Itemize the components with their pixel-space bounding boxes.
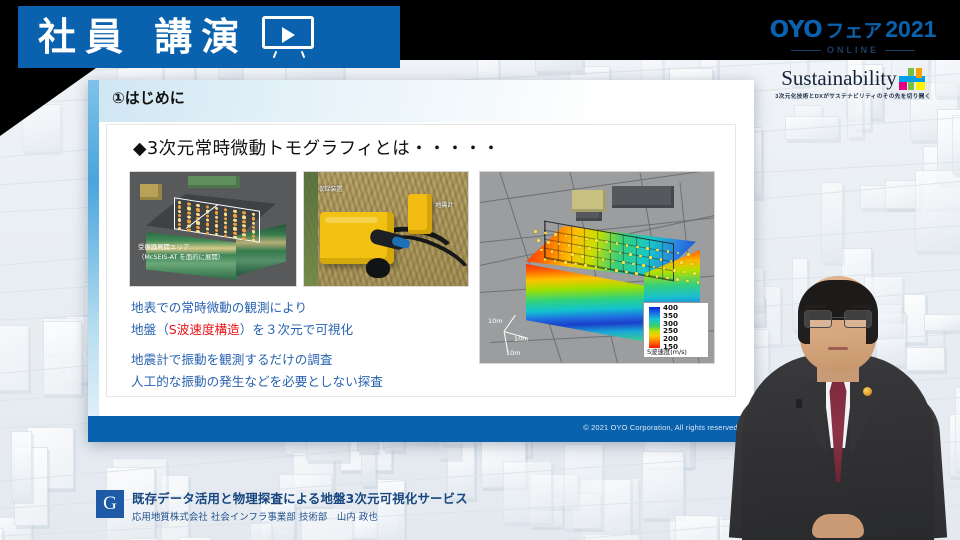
- slide-content-box: ◆3次元常時微動トモグラフィとは・・・・・ 受振器展開エリア: [106, 124, 736, 397]
- sensor-dot: [537, 239, 540, 242]
- sensor-dot: [564, 261, 567, 264]
- presenter-video: [734, 270, 942, 540]
- sensor-dot: [673, 269, 676, 272]
- sensor-dot: [224, 212, 227, 216]
- sensor-dot: [224, 234, 227, 238]
- scale-axis-indicator: 10m 10m 10m: [488, 311, 540, 355]
- body-line-1: 地表での常時微動の観測により: [131, 297, 383, 319]
- sensor-dot: [609, 250, 612, 253]
- sensor-dot: [544, 232, 547, 235]
- city-block: [0, 325, 29, 390]
- sensor-dot: [242, 211, 245, 215]
- sensor-dot: [233, 214, 236, 218]
- sensor-dot: [622, 261, 625, 264]
- sensor-dot: [591, 257, 594, 260]
- sensor-dot: [178, 218, 181, 222]
- receiver-array-illustration: 受振器展開エリア （McSEIS-AT を面的に展開）: [129, 171, 297, 287]
- city-block: [955, 387, 960, 471]
- sensor-dot: [595, 239, 598, 242]
- sensor-dot: [224, 208, 227, 212]
- footer-subtitle: 応用地質株式会社 社会インフラ事業部 技術部 山内 政也: [132, 509, 378, 523]
- sensor-dot: [534, 230, 537, 233]
- sensor-dot: [233, 235, 236, 239]
- axis-label-y: 10m: [506, 349, 521, 357]
- sensor-dot: [206, 205, 209, 209]
- sensor-dot: [676, 278, 679, 281]
- label-seismometer: 地震計: [435, 200, 454, 209]
- sensor-dot: [224, 221, 227, 225]
- sensor-dot: [242, 215, 245, 219]
- sensor-dot: [206, 222, 209, 226]
- sensor-dot: [578, 246, 581, 249]
- sensor-dot: [206, 231, 209, 235]
- sensor-dot: [551, 250, 554, 253]
- city-block: [952, 115, 960, 173]
- sensor-dot: [636, 246, 639, 249]
- figure1-caption: 受振器展開エリア （McSEIS-AT を面的に展開）: [138, 243, 224, 262]
- sensor-dot: [554, 233, 557, 236]
- sustainability-wordmark: Sustainability: [781, 66, 897, 91]
- banner-title: 社員 講演: [38, 18, 248, 56]
- footer-title: 既存データ活用と物理探査による地盤3次元可視化サービス: [132, 489, 468, 507]
- sensor-dot: [252, 238, 255, 242]
- colorbar-legend: 400350300250200150 S波速度(m/s): [643, 302, 709, 358]
- sensor-dot: [660, 258, 663, 261]
- logo-brand: OYO: [770, 17, 823, 43]
- sensor-dot: [571, 253, 574, 256]
- sensor-dot: [215, 232, 218, 236]
- lapel-microphone: [796, 399, 802, 408]
- sensor-dot: [178, 227, 181, 231]
- sensor-dot: [252, 212, 255, 216]
- sensor-dot: [588, 247, 591, 250]
- sensor-dot: [252, 234, 255, 238]
- sensor-dot: [616, 242, 619, 245]
- logo-year: 2021: [885, 16, 936, 43]
- sensor-dot: [690, 263, 693, 266]
- sensor-dot: [196, 204, 199, 208]
- sensor-dot: [602, 258, 605, 261]
- sensor-dot: [178, 205, 181, 209]
- logo-online: ONLINE: [827, 45, 879, 55]
- sensor-dot: [242, 220, 245, 224]
- sensor-dot: [206, 227, 209, 231]
- sensor-dot: [187, 207, 190, 211]
- sensor-dot: [242, 233, 245, 237]
- sensor-dot: [544, 258, 547, 261]
- sensor-dot: [187, 211, 190, 215]
- slide-header: [88, 80, 754, 122]
- sensor-dot: [215, 228, 218, 232]
- sensor-dot: [215, 211, 218, 215]
- sensor-dot: [667, 250, 670, 253]
- sensor-dot: [233, 210, 236, 214]
- sensor-dot: [629, 253, 632, 256]
- sensor-dot: [642, 264, 645, 267]
- field-equipment-photo: 収録装置 地震計: [303, 171, 469, 287]
- sensor-dot: [635, 272, 638, 275]
- sensor-dot: [233, 222, 236, 226]
- fair-logo: OYO フェア 2021 ONLINE Sustainability 3次元化技…: [758, 16, 948, 100]
- copyright-text: © 2021 OYO Corporation, All rights reser…: [583, 423, 740, 432]
- sensor-dot: [206, 218, 209, 222]
- slide-left-strip: [88, 80, 99, 442]
- sensor-dot: [178, 222, 181, 226]
- sensor-dot: [683, 271, 686, 274]
- title-banner: 社員 講演: [18, 6, 400, 68]
- company-badge: G: [96, 490, 124, 518]
- sensor-dot: [242, 224, 245, 228]
- sensor-dot: [242, 237, 245, 241]
- slide-section-title: ①はじめに: [112, 87, 185, 108]
- lapel-pin: [863, 387, 872, 396]
- sensor-dot: [646, 247, 649, 250]
- eyeglasses-icon: [804, 310, 872, 326]
- presentation-stage: 社員 講演 OYO フェア 2021 ONLINE Sustainability: [0, 0, 960, 540]
- sensor-dot: [196, 225, 199, 229]
- sensor-dot: [224, 217, 227, 221]
- sensor-dot: [215, 207, 218, 211]
- sensor-dot: [680, 261, 683, 264]
- sensor-dot: [547, 241, 550, 244]
- sensor-dot: [196, 212, 199, 216]
- sensor-dot: [187, 219, 190, 223]
- sensor-dot: [252, 217, 255, 221]
- sensor-dot: [196, 230, 199, 234]
- sensor-dot: [252, 225, 255, 229]
- sensor-dot: [649, 256, 652, 259]
- sensor-dot: [625, 271, 628, 274]
- body-line-2: 地盤（S波速度構造）を３次元で可視化: [131, 319, 383, 341]
- colorbar-caption: S波速度(m/s): [647, 347, 687, 356]
- sensor-dot: [242, 228, 245, 232]
- sensor-dot: [687, 253, 690, 256]
- sensor-dot: [187, 228, 190, 232]
- sensor-dot: [233, 227, 236, 231]
- axis-label-x: 10m: [514, 335, 529, 343]
- sensor-dot: [215, 224, 218, 228]
- sustainability-tagline: 3次元化技術とDXがサステナビリティのその先を切り開く: [758, 92, 948, 100]
- tomography-3d-model: 10m 10m 10m 400350300250200150 S波速度(m/s): [479, 171, 715, 364]
- monitor-play-icon: [262, 16, 320, 58]
- figure-row: 受振器展開エリア （McSEIS-AT を面的に展開） 収録装置: [129, 171, 469, 287]
- sensor-dot: [584, 264, 587, 267]
- sensor-dot: [178, 209, 181, 213]
- sensor-dot: [196, 221, 199, 225]
- sensor-dot: [224, 225, 227, 229]
- sensor-dot: [187, 202, 190, 206]
- sensor-dot: [178, 214, 181, 218]
- sensor-dot: [252, 230, 255, 234]
- sensor-dot: [656, 249, 659, 252]
- sensor-dot: [215, 220, 218, 224]
- colorbar-ticks: 400350300250200150: [663, 304, 707, 350]
- slide-footer-bar: © 2021 OYO Corporation, All rights reser…: [88, 416, 754, 442]
- sensor-dot: [615, 269, 618, 272]
- city-block: [43, 321, 81, 395]
- sensor-dot: [585, 238, 588, 241]
- label-recorder: 収録装置: [318, 184, 343, 193]
- sensor-dot: [233, 231, 236, 235]
- sensor-dot: [233, 218, 236, 222]
- body-line-3: 地震計で振動を観測するだけの調査: [131, 349, 383, 371]
- plus-cross-icon: [899, 68, 925, 90]
- colorbar-tick: 350: [663, 312, 707, 319]
- sensor-dot: [595, 266, 598, 269]
- slide-body-text: 地表での常時微動の観測により 地盤（S波速度構造）を３次元で可視化 地震計で振動…: [131, 297, 383, 393]
- colorbar-gradient: [649, 307, 660, 348]
- slide-heading: ◆3次元常時微動トモグラフィとは・・・・・: [133, 135, 500, 160]
- sensor-dot: [196, 208, 199, 212]
- sensor-dot: [581, 255, 584, 258]
- sensor-dot: [206, 214, 209, 218]
- logo-fair: フェア: [825, 16, 882, 43]
- sensor-dot: [215, 215, 218, 219]
- slide: ①はじめに ◆3次元常時微動トモグラフィとは・・・・・: [88, 80, 754, 442]
- sensor-dot: [187, 215, 190, 219]
- body-highlight: S波速度構造: [169, 322, 240, 337]
- axis-label-z: 10m: [488, 317, 503, 325]
- sensor-dot: [693, 272, 696, 275]
- body-line-4: 人工的な振動の発生などを必要としない探査: [131, 371, 383, 393]
- sensor-dot: [224, 230, 227, 234]
- sensor-dot: [252, 221, 255, 225]
- sensor-dot: [178, 201, 181, 205]
